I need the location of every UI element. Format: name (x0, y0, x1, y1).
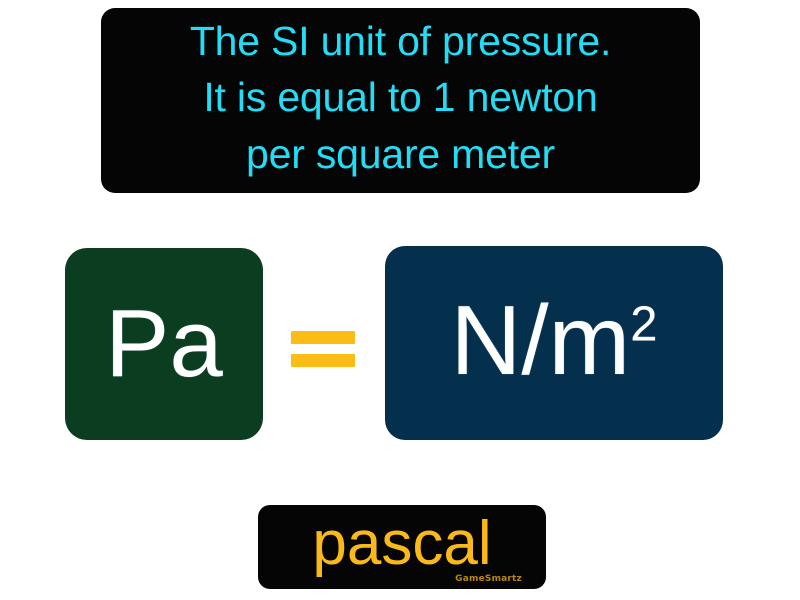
definition-card: The SI unit of pressure. It is equal to … (0, 0, 800, 600)
equals-bar-top (291, 331, 355, 344)
unit-expansion-box: N/m2 (385, 246, 723, 440)
unit-expansion-label: N/m2 (451, 291, 658, 395)
unit-symbol-box: Pa (65, 248, 263, 440)
answer-label: pascal (312, 513, 491, 581)
equals-bar-bottom (291, 354, 355, 367)
answer-panel: pascal GameSmartz (258, 505, 546, 589)
definition-panel: The SI unit of pressure. It is equal to … (101, 8, 700, 193)
unit-expansion-exponent: 2 (630, 297, 657, 351)
definition-text: The SI unit of pressure. It is equal to … (190, 13, 611, 181)
equals-icon (291, 331, 355, 367)
equation-row: Pa N/m2 (0, 246, 800, 442)
watermark-label: GameSmartz (455, 574, 522, 584)
unit-symbol-label: Pa (105, 296, 222, 392)
unit-expansion-base: N/m (451, 285, 631, 395)
